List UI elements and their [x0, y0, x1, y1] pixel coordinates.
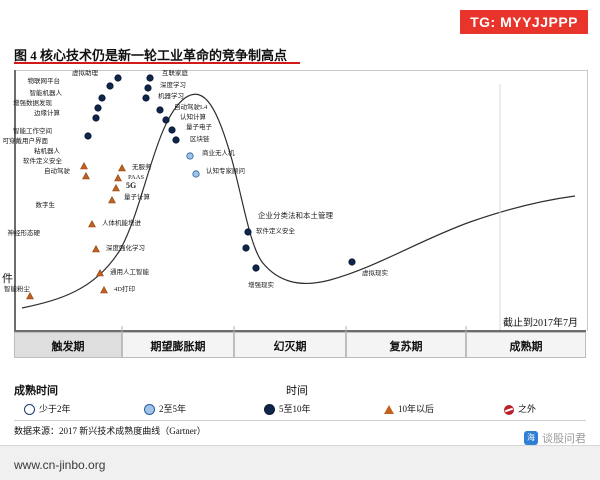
data-point-label: 软件定义安全 — [256, 228, 295, 236]
phase-label-4: 成熟期 — [466, 338, 586, 354]
triangle-icon — [384, 405, 394, 414]
chart-frame — [14, 70, 588, 331]
title-underline — [14, 62, 300, 64]
data-point-label: 认知专家顾问 — [206, 168, 245, 176]
legend-item-3: 10年以后 — [384, 400, 434, 418]
legend-item-1: 2至5年 — [144, 400, 186, 418]
data-point-label: 增强现实 — [248, 282, 274, 290]
data-point-label: 神经形态硬 — [0, 230, 40, 238]
data-point-label: 4D打印 — [114, 286, 135, 294]
url-text: www.cn-jinbo.org — [14, 458, 105, 472]
legend-label: 之外 — [518, 404, 536, 414]
phase-label-3: 复苏期 — [346, 338, 466, 354]
legend-item-0: 少于2年 — [24, 400, 71, 418]
legend-label: 10年以后 — [398, 404, 434, 414]
legend-label: 5至10年 — [279, 404, 311, 414]
phase-label-1: 期望膨胀期 — [122, 338, 234, 354]
watermark-text: 谈股问君 — [542, 430, 586, 446]
y-axis-label: 件 — [2, 270, 13, 286]
data-point-label: 数字生 — [0, 202, 55, 210]
data-point-label: 虚拟助理 — [0, 70, 98, 78]
data-point-label: 自动驾驶L4 — [174, 104, 207, 112]
data-point-label: 增强数据发现 — [0, 100, 52, 108]
data-point-label: 智能工作空间 — [0, 128, 52, 136]
data-point-label: 企业分类法和本土管理 — [258, 212, 333, 220]
source-note: 数据来源：2017 新兴技术成熟度曲线（Gartner） — [14, 424, 206, 437]
maturity-legend-title: 成熟时间 — [14, 382, 58, 398]
data-point-label: PAAS — [128, 174, 144, 182]
legend-item-4: 之外 — [504, 400, 536, 418]
data-point-label: 物联网平台 — [0, 78, 60, 86]
data-point-label: 粘机器人 — [0, 148, 60, 156]
open-circle-icon — [24, 404, 35, 415]
data-point-label: 机器学习 — [158, 93, 184, 101]
data-point-label: 虚拟现实 — [362, 270, 388, 278]
data-point-label: 区块链 — [190, 136, 210, 144]
data-point-label: 认知计算 — [180, 114, 206, 122]
data-point-label: 商业无人机 — [202, 150, 235, 158]
divider — [14, 420, 586, 421]
data-point-label: 无服务 — [132, 164, 152, 172]
watermark: 海 谈股问君 — [524, 430, 586, 446]
data-point-label: 自动驾驶 — [0, 168, 70, 176]
data-point-label: 边缘计算 — [0, 110, 60, 118]
legend-label: 2至5年 — [159, 404, 186, 414]
data-point-label: 5G — [126, 182, 136, 190]
legend-label: 少于2年 — [39, 404, 71, 414]
light-circle-icon — [144, 404, 155, 415]
data-point-label: 量子计算 — [124, 194, 150, 202]
data-point-label: 智能机器人 — [0, 90, 62, 98]
watermark-logo-icon: 海 — [524, 431, 538, 445]
phase-label-2: 幻灭期 — [234, 338, 346, 354]
legend: 少于2年2至5年5至10年10年以后之外 — [14, 400, 586, 422]
data-point-label: 智能粉尘 — [0, 286, 30, 294]
data-point-label: 深度强化学习 — [106, 245, 145, 253]
legend-item-2: 5至10年 — [264, 400, 311, 418]
cutoff-note: 截止到2017年7月 — [503, 314, 578, 329]
url-bar: www.cn-jinbo.org — [0, 445, 600, 480]
data-point-label: 可穿戴用户界面 — [0, 138, 48, 146]
tg-badge: TG: MYYJJPPP — [460, 10, 588, 34]
obsolete-icon — [504, 405, 514, 415]
data-point-label: 通用人工智能 — [110, 269, 149, 277]
dark-circle-icon — [264, 404, 275, 415]
data-point-label: 人体机能增进 — [102, 220, 141, 228]
data-point-label: 量子电子 — [186, 124, 212, 132]
data-point-label: 软件定义安全 — [0, 158, 62, 166]
x-axis-label: 时间 — [286, 382, 308, 398]
data-point-label: 深度学习 — [160, 82, 186, 90]
data-point-label: 互联家庭 — [162, 70, 188, 78]
phase-label-0: 触发期 — [14, 338, 122, 354]
